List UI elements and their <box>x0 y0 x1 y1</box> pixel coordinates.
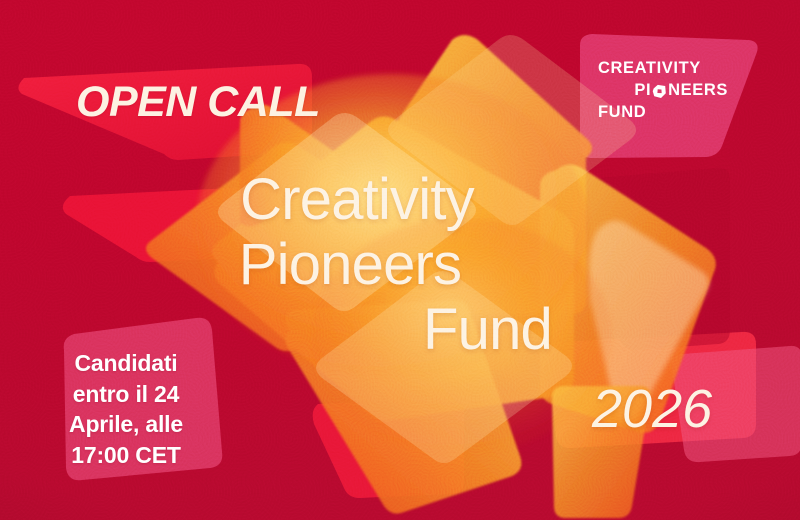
headline-line-1: Creativity <box>130 168 560 233</box>
logo-pioneers-suffix: NEERS <box>668 80 728 102</box>
polygon-mark-svg <box>652 84 667 99</box>
deadline-text: Candidati entro il 24 Aprile, alle 17:00… <box>58 348 194 470</box>
logo-line-pioneers: PI NEERS <box>598 80 730 102</box>
deadline-line-1: Candidati <box>58 348 194 379</box>
headline-line-3: Fund <box>130 298 560 363</box>
year-label: 2026 <box>592 378 712 440</box>
deadline-line-4: 17:00 CET <box>58 440 194 471</box>
poster-canvas: OPEN CALL Creativity Pioneers Fund Candi… <box>0 0 800 520</box>
deadline-line-3: Aprile, alle <box>58 409 194 440</box>
logo-line-creativity: CREATIVITY <box>598 58 730 80</box>
logo-pioneers-prefix: PI <box>634 80 651 102</box>
creativity-pioneers-fund-logo: CREATIVITY PI NEERS FUND <box>598 58 730 123</box>
headline-line-2: Pioneers <box>130 233 560 298</box>
text-layer: OPEN CALL Creativity Pioneers Fund Candi… <box>0 0 800 520</box>
logo-line-fund: FUND <box>598 102 730 124</box>
pioneers-polygon-mark-icon <box>652 84 667 99</box>
eyebrow-open-call: OPEN CALL <box>76 78 320 127</box>
deadline-line-2: entro il 24 <box>58 379 194 410</box>
page-title: Creativity Pioneers Fund <box>130 168 560 363</box>
